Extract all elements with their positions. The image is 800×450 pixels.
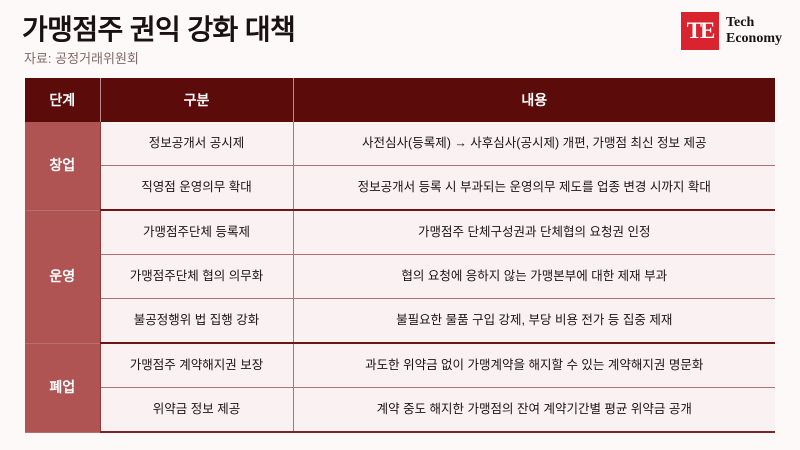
brand-wordmark: Tech Economy xyxy=(726,15,782,46)
kind-cell-1-2: 불공정행위 법 집행 강화 xyxy=(100,299,293,344)
page-title: 가맹점주 권익 강화 대책 xyxy=(22,8,295,48)
te-monogram-label: TE xyxy=(681,19,719,42)
table-row: 직영점 운영의무 확대 정보공개서 등록 시 부과되는 운영의무 제도를 업종 … xyxy=(25,166,775,211)
detail-cell-0-0: 사전심사(등록제) → 사후심사(공시제) 개편, 가맹점 최신 정보 제공 xyxy=(293,122,775,166)
column-header-stage: 단계 xyxy=(25,78,100,122)
table-row: 가맹점주단체 협의 의무화 협의 요청에 응하지 않는 가맹본부에 대한 제재 … xyxy=(25,255,775,299)
table-header: 단계 구분 내용 xyxy=(25,78,775,122)
detail-cell-0-1: 정보공개서 등록 시 부과되는 운영의무 제도를 업종 변경 시까지 확대 xyxy=(293,166,775,211)
column-header-detail: 내용 xyxy=(293,78,775,122)
table-row: 불공정행위 법 집행 강화 불필요한 물품 구입 강제, 부당 비용 전가 등 … xyxy=(25,299,775,344)
kind-cell-0-0: 정보공개서 공시제 xyxy=(100,122,293,166)
column-header-kind: 구분 xyxy=(100,78,293,122)
detail-cell-2-1: 계약 중도 해지한 가맹점의 잔여 계약기간별 평균 위약금 공개 xyxy=(293,388,775,433)
detail-cell-2-0: 과도한 위약금 없이 가맹계약을 해지할 수 있는 계약해지권 명문화 xyxy=(293,343,775,388)
table-row: 운영 가맹점주단체 등록제 가맹점주 단체구성권과 단체협의 요청권 인정 xyxy=(25,210,775,255)
detail-cell-1-1: 협의 요청에 응하지 않는 가맹본부에 대한 제재 부과 xyxy=(293,255,775,299)
kind-cell-2-0: 가맹점주 계약해지권 보장 xyxy=(100,343,293,388)
table-body: 창업 정보공개서 공시제 사전심사(등록제) → 사후심사(공시제) 개편, 가… xyxy=(25,122,775,432)
kind-cell-2-1: 위약금 정보 제공 xyxy=(100,388,293,433)
measures-table: 단계 구분 내용 창업 정보공개서 공시제 사전심사(등록제) → 사후심사(공… xyxy=(25,78,775,433)
stage-cell-0: 창업 xyxy=(25,122,100,210)
page-header: 가맹점주 권익 강화 대책 자료: 공정거래위원회 TE Tech Econom… xyxy=(0,0,800,78)
te-monogram-icon: TE xyxy=(681,12,719,50)
kind-cell-1-1: 가맹점주단체 협의 의무화 xyxy=(100,255,293,299)
source-caption: 자료: 공정거래위원회 xyxy=(24,48,139,67)
table-row: 위약금 정보 제공 계약 중도 해지한 가맹점의 잔여 계약기간별 평균 위약금… xyxy=(25,388,775,433)
brand-logo: TE Tech Economy xyxy=(681,12,782,50)
detail-cell-1-2: 불필요한 물품 구입 강제, 부당 비용 전가 등 집중 제재 xyxy=(293,299,775,344)
stage-cell-2: 폐업 xyxy=(25,343,100,432)
brand-wordmark-line2: Economy xyxy=(726,31,782,47)
stage-cell-1: 운영 xyxy=(25,210,100,343)
measures-table-wrapper: 단계 구분 내용 창업 정보공개서 공시제 사전심사(등록제) → 사후심사(공… xyxy=(25,78,775,433)
detail-cell-1-0: 가맹점주 단체구성권과 단체협의 요청권 인정 xyxy=(293,210,775,255)
table-row: 폐업 가맹점주 계약해지권 보장 과도한 위약금 없이 가맹계약을 해지할 수 … xyxy=(25,343,775,388)
brand-wordmark-line1: Tech xyxy=(726,15,782,31)
kind-cell-0-1: 직영점 운영의무 확대 xyxy=(100,166,293,211)
table-header-row: 단계 구분 내용 xyxy=(25,78,775,122)
kind-cell-1-0: 가맹점주단체 등록제 xyxy=(100,210,293,255)
table-row: 창업 정보공개서 공시제 사전심사(등록제) → 사후심사(공시제) 개편, 가… xyxy=(25,122,775,166)
